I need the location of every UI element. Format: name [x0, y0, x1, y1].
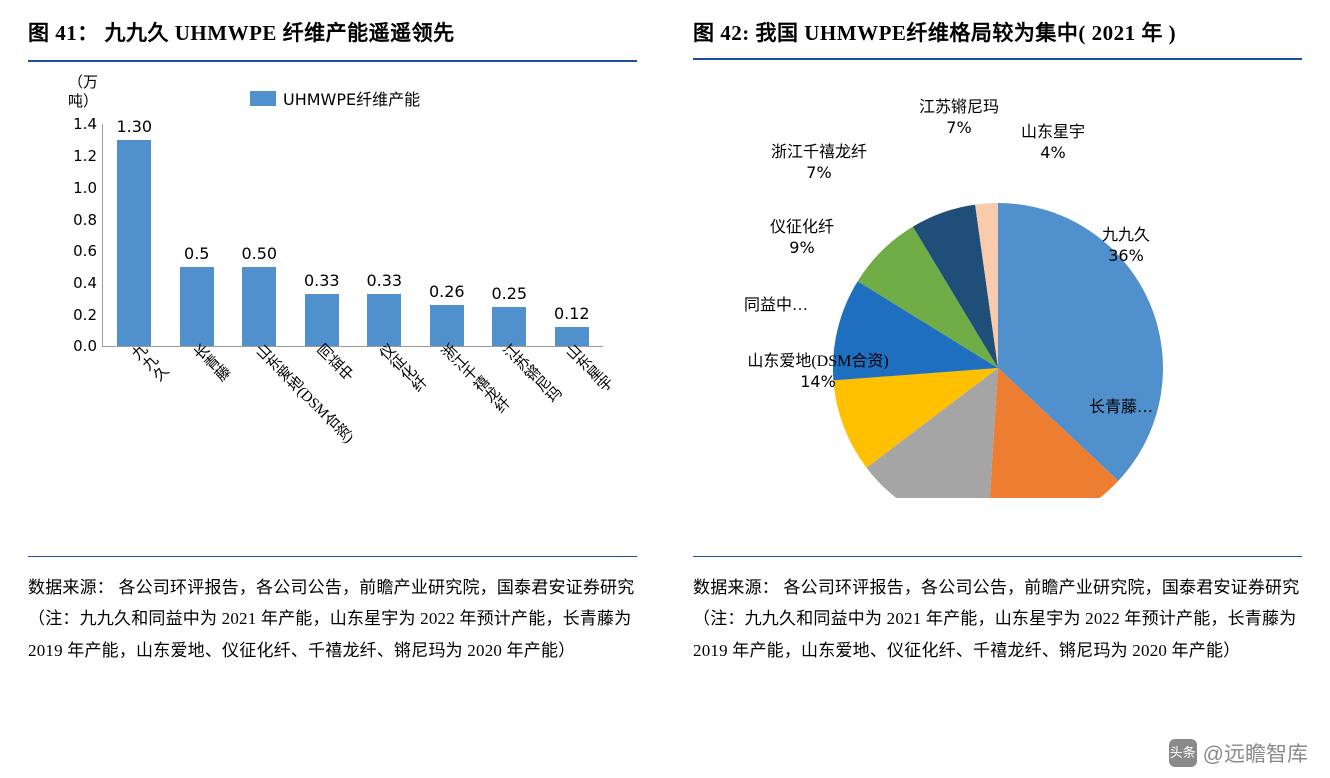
bar-slot: 0.26 [416, 124, 479, 346]
figure-41-title-rule [28, 60, 637, 62]
pie-label-pct: 7% [806, 163, 831, 182]
y-tick-5: 1.0 [73, 179, 97, 197]
bar-value-label: 1.30 [116, 117, 152, 136]
pie-chart: 江苏锵尼玛 7% 山东星宇 4% 浙江千禧龙纤 7% 仪征化纤 9% 同益中… … [693, 68, 1303, 498]
pie-label-shandongaidi: 山东爱地(DSM合资) 14% [693, 352, 943, 391]
pie-label-pct: 4% [1040, 143, 1065, 162]
y-axis-unit-label: （万吨） [68, 74, 102, 112]
bar-value-label: 0.5 [184, 244, 209, 263]
pie-label-yizhenghuaxian: 仪征化纤 9% [747, 218, 857, 257]
figure-41-title: 图 41： 九九久 UHMWPE 纤维产能遥遥领先 [28, 0, 637, 48]
bar-slot: 0.25 [478, 124, 541, 346]
pie-label-zhejiangqianxilongxian: 浙江千禧龙纤 7% [749, 143, 889, 182]
pie-label-pct: 36% [1108, 246, 1144, 265]
legend-label: UHMWPE纤维产能 [283, 86, 420, 110]
pie-label-text: 同益中… [744, 297, 808, 314]
bar-value-label: 0.50 [241, 244, 277, 263]
x-label-3: 同益中 [313, 342, 357, 386]
y-tick-2: 0.4 [73, 274, 97, 292]
bar-value-label: 0.25 [491, 284, 527, 303]
figure-42-footnote-rule [693, 556, 1302, 557]
bar[interactable] [305, 294, 339, 346]
pie-label-pct: 14% [800, 372, 836, 391]
bar-chart-legend: UHMWPE纤维产能 [250, 86, 420, 110]
x-label-0: 九九久 [127, 342, 171, 386]
legend-swatch-icon [250, 91, 276, 106]
pie-label-jiujiujiu: 九九久 36% [1071, 226, 1181, 265]
x-label-1: 长青藤 [189, 342, 233, 386]
y-tick-7: 1.4 [73, 115, 97, 133]
bar-value-label: 0.33 [304, 271, 340, 290]
bar[interactable] [492, 307, 526, 347]
figure-41-footnote: 数据来源： 各公司环评报告，各公司公告，前瞻产业研究院，国泰君安证券研究（注：九… [28, 560, 636, 666]
page-root: 图 41： 九九久 UHMWPE 纤维产能遥遥领先 UHMWPE纤维产能 （万吨… [0, 0, 1330, 778]
bar-slot: 0.5 [166, 124, 229, 346]
bar[interactable] [180, 267, 214, 346]
pie-label-text: 浙江千禧龙纤 [771, 144, 867, 161]
toutiao-logo-icon: 头条 [1169, 739, 1197, 767]
bar-slot: 0.50 [228, 124, 291, 346]
pie-label-pct: 9% [789, 238, 814, 257]
bar-slot: 0.12 [541, 124, 604, 346]
bar[interactable] [242, 267, 276, 346]
bar-chart: UHMWPE纤维产能 （万吨） 0.0 0.2 0.4 0.6 0.8 1.0 … [28, 68, 638, 498]
bar-plot-area: 0.0 0.2 0.4 0.6 0.8 1.0 1.2 1.4 1.30 0.5 [102, 124, 603, 347]
figure-42-footnote: 数据来源： 各公司环评报告，各公司公告，前瞻产业研究院，国泰君安证券研究（注：九… [693, 560, 1301, 666]
bar[interactable] [367, 294, 401, 346]
x-label-6: 江苏锵尼玛 [499, 342, 564, 407]
bar[interactable] [117, 140, 151, 346]
figure-41-footnote-rule [28, 556, 637, 557]
figure-42-title-rule [693, 58, 1302, 60]
pie-label-pct: 7% [946, 118, 971, 137]
pie-label-shandongxingyu: 山东星宇 4% [993, 123, 1113, 162]
bar-value-label: 0.33 [366, 271, 402, 290]
y-tick-3: 0.6 [73, 242, 97, 260]
figure-42-panel: 图 42: 我国 UHMWPE纤维格局较为集中( 2021 年 ) [665, 0, 1330, 778]
pie-label-text: 长青藤… [1089, 399, 1153, 416]
pie-label-text: 江苏锵尼玛 [919, 99, 999, 116]
watermark-text: @远瞻智库 [1203, 738, 1308, 768]
x-label-7: 山东星宇 [561, 342, 615, 396]
pie-label-text: 山东爱地(DSM合资) [747, 353, 888, 370]
y-tick-6: 1.2 [73, 147, 97, 165]
y-tick-4: 0.8 [73, 211, 97, 229]
pie-label-text: 九九久 [1102, 227, 1150, 244]
pie-label-changqingteng: 长青藤… [1051, 398, 1191, 417]
bar-slot: 0.33 [353, 124, 416, 346]
pie-label-text: 山东星宇 [1021, 124, 1085, 141]
bar-slot: 1.30 [103, 124, 166, 346]
x-label-4: 仪征化纤 [375, 342, 429, 396]
y-tick-0: 0.0 [73, 337, 97, 355]
pie-label-text: 仪征化纤 [770, 219, 834, 236]
pie-label-tongyizhong: 同益中… [711, 296, 841, 315]
y-tick-1: 0.2 [73, 306, 97, 324]
bar-series: 1.30 0.5 0.50 0.33 [103, 124, 603, 346]
figure-41-panel: 图 41： 九九久 UHMWPE 纤维产能遥遥领先 UHMWPE纤维产能 （万吨… [0, 0, 665, 778]
bar-value-label: 0.12 [554, 304, 590, 323]
watermark: 头条 @远瞻智库 [1169, 738, 1308, 768]
x-axis-labels: 九九久 长青藤 山东爱地(DSM合资) 同益中 仪征化纤 浙江千禧龙纤 江苏锵尼… [102, 352, 602, 502]
bar-slot: 0.33 [291, 124, 354, 346]
bar-value-label: 0.26 [429, 282, 465, 301]
bar[interactable] [430, 305, 464, 346]
figure-42-title: 图 42: 我国 UHMWPE纤维格局较为集中( 2021 年 ) [693, 0, 1302, 48]
